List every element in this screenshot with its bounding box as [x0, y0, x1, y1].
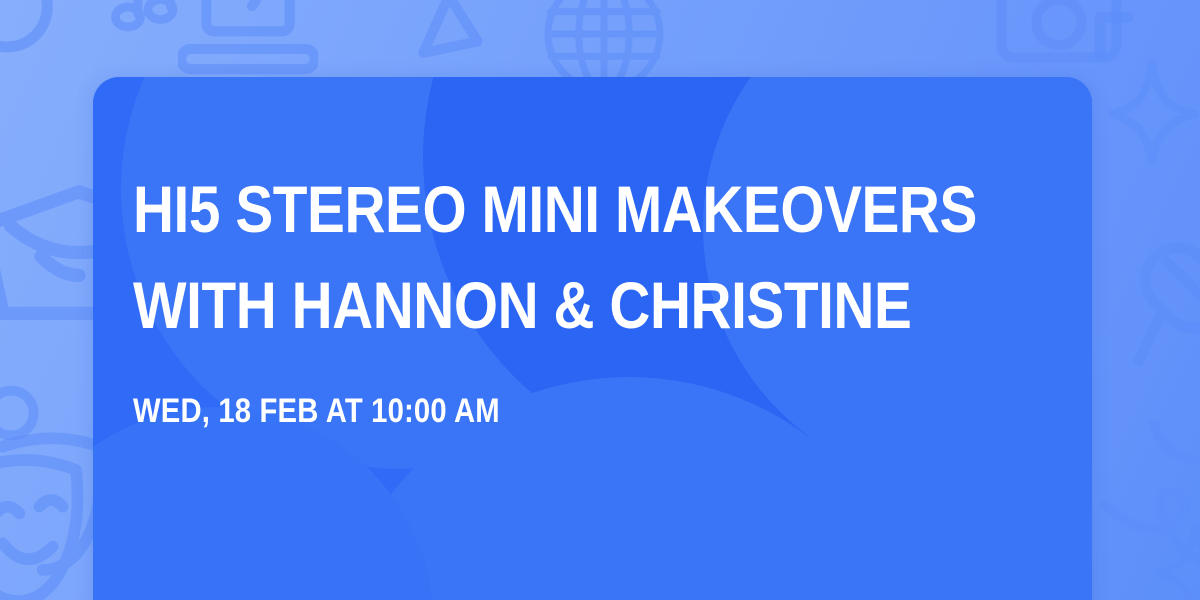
balloon-icon [0, 0, 84, 80]
balloon-icon [0, 378, 56, 448]
balloon-icon [1096, 420, 1200, 600]
event-card-content: HI5 STEREO MINI MAKEOVERS WITH HANNON & … [93, 77, 1092, 431]
sparkle-icon [1150, 520, 1200, 600]
music-note-icon [1086, 6, 1156, 76]
event-poster: HI5 STEREO MINI MAKEOVERS WITH HANNON & … [0, 0, 1200, 600]
sparkle-icon [1104, 56, 1200, 166]
event-title-line-2: WITH HANNON & CHRISTINE [133, 257, 906, 353]
party-popper-icon [404, 0, 494, 70]
laptop-icon [178, 0, 318, 78]
event-card: HI5 STEREO MINI MAKEOVERS WITH HANNON & … [93, 77, 1092, 600]
event-datetime: WED, 18 FEB AT 10:00 AM [133, 391, 906, 431]
event-title-line-1: HI5 STEREO MINI MAKEOVERS [133, 161, 906, 257]
event-title: HI5 STEREO MINI MAKEOVERS WITH HANNON & … [133, 161, 906, 353]
card-blob-decoration [93, 407, 433, 600]
camera-icon [984, 0, 1134, 80]
music-note-icon [108, 0, 188, 42]
microphone-icon [1128, 236, 1200, 396]
